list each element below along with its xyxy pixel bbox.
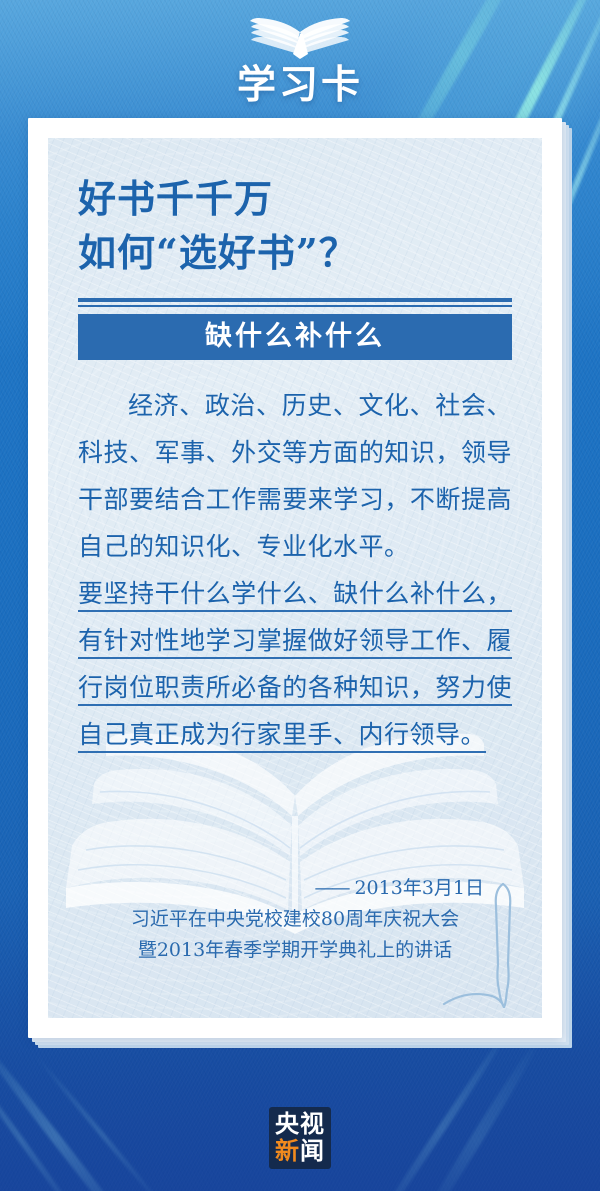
attribution-dash: —— — [314, 877, 348, 899]
attribution: ——2013年3月1日 习近平在中央党校建校80周年庆祝大会 暨2013年春季学… — [78, 873, 512, 966]
body-paragraph-1: 经济、政治、历史、文化、社会、科技、军事、外交等方面的知识，领导干部要结合工作需… — [78, 382, 512, 570]
header-title: 学习卡 — [0, 62, 600, 108]
logo-char-xin: 新 — [275, 1137, 300, 1165]
logo-line-1: 央视 — [269, 1111, 331, 1138]
section-banner: 缺什么补什么 — [78, 314, 512, 360]
cctv-news-logo[interactable]: 央视 新闻 — [269, 1107, 331, 1169]
card-stack: 好书千千万 如何“选好书”？ 缺什么补什么 经济、政治、历史、文化、社会、科技、… — [28, 118, 572, 1048]
attribution-line-2: 习近平在中央党校建校80周年庆祝大会 — [78, 904, 512, 935]
card-front-sheet: 好书千千万 如何“选好书”？ 缺什么补什么 经济、政治、历史、文化、社会、科技、… — [28, 118, 562, 1038]
card-title-line-1: 好书千千万 — [78, 172, 512, 226]
body-paragraph-2-highlighted: 要坚持干什么学什么、缺什么补什么，有针对性地学习掌握做好领导工作、履行岗位职责所… — [78, 570, 512, 758]
card-content: 好书千千万 如何“选好书”？ 缺什么补什么 经济、政治、历史、文化、社会、科技、… — [48, 138, 542, 758]
study-card-poster: 学习卡 — [0, 0, 600, 1191]
attribution-date: 2013年3月1日 — [354, 877, 484, 899]
card-body: 经济、政治、历史、文化、社会、科技、军事、外交等方面的知识，领导干部要结合工作需… — [78, 382, 512, 758]
card-title: 好书千千万 如何“选好书”？ — [78, 172, 512, 280]
logo-line-2: 新闻 — [269, 1138, 331, 1165]
open-book-icon — [241, 16, 359, 60]
attribution-line-3: 暨2013年春季学期开学典礼上的讲话 — [78, 935, 512, 966]
logo-char-wen: 闻 — [300, 1137, 325, 1165]
poster-header: 学习卡 — [0, 16, 600, 108]
divider-thin — [78, 305, 512, 307]
poster-footer: 央视 新闻 — [0, 1107, 600, 1169]
card-title-line-2: 如何“选好书”？ — [78, 226, 512, 280]
card-paper: 好书千千万 如何“选好书”？ 缺什么补什么 经济、政治、历史、文化、社会、科技、… — [48, 138, 542, 1018]
attribution-date-row: ——2013年3月1日 — [78, 873, 512, 904]
divider-rules — [78, 298, 512, 307]
